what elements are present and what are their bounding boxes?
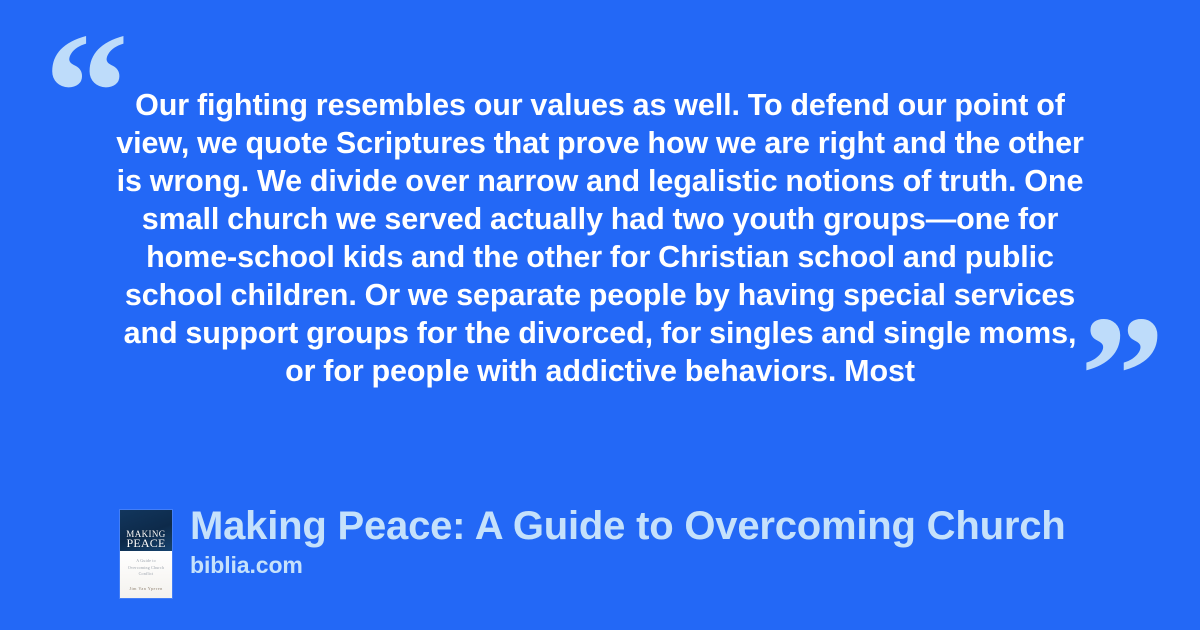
- closing-quote-icon: ”: [1080, 290, 1163, 460]
- book-cover-title-line2: PEACE: [122, 539, 170, 549]
- book-cover-author: Jim Van Yperen: [124, 586, 168, 591]
- book-cover-thumbnail: MAKING PEACE A Guide to Overcoming Churc…: [120, 510, 172, 598]
- footer-text-group: Making Peace: A Guide to Overcoming Chur…: [190, 501, 1065, 579]
- book-cover-title: MAKING PEACE: [122, 530, 170, 548]
- site-name: biblia.com: [190, 551, 1065, 579]
- book-cover-subtitle: A Guide to Overcoming Church Conflict: [126, 558, 166, 578]
- quote-card: “ ” Our fighting resembles our values as…: [0, 0, 1200, 630]
- book-title: Making Peace: A Guide to Overcoming Chur…: [190, 501, 1065, 551]
- quote-text: Our fighting resembles our values as wel…: [108, 86, 1092, 390]
- footer: MAKING PEACE A Guide to Overcoming Churc…: [120, 505, 1065, 598]
- quote-block: Our fighting resembles our values as wel…: [108, 86, 1092, 390]
